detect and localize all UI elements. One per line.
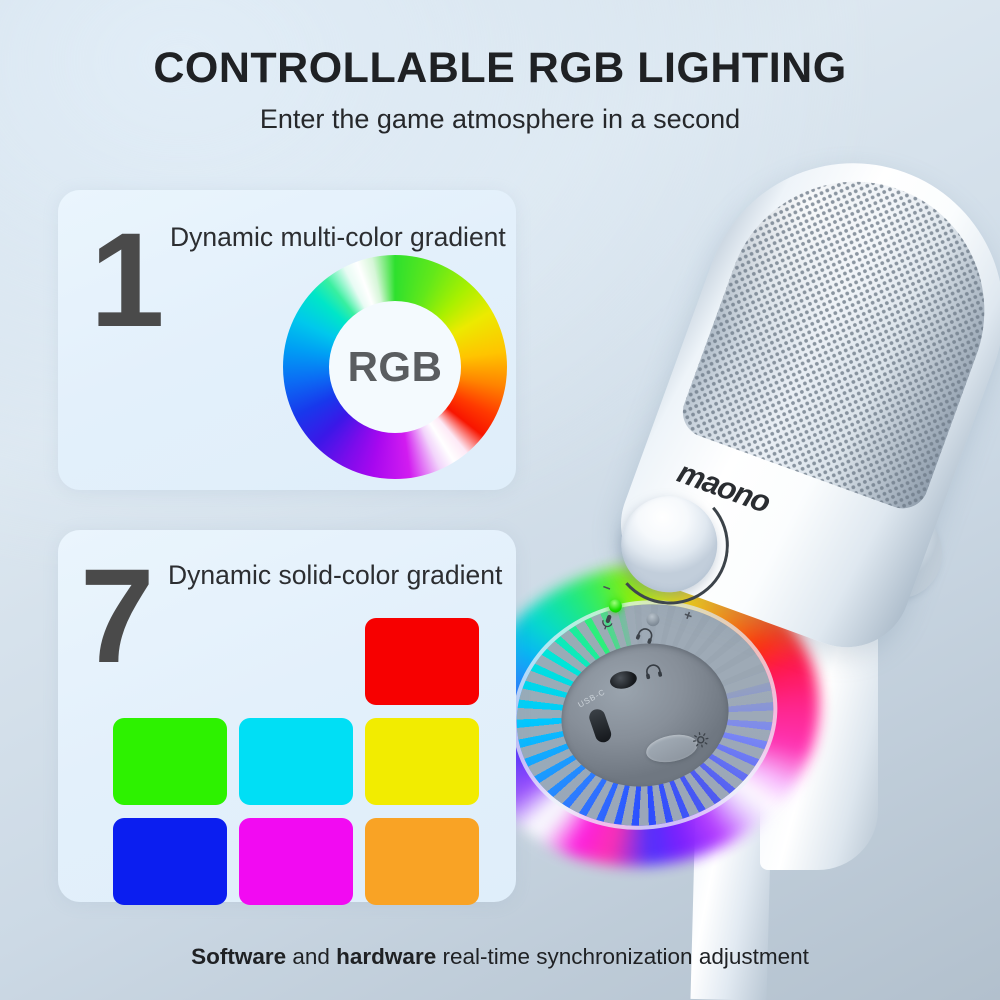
base-radial-fins <box>497 582 792 847</box>
rgb-color-wheel: RGB <box>283 255 507 479</box>
mic-grille <box>676 145 1000 515</box>
headphone-icon <box>635 625 656 645</box>
volume-knob <box>608 483 731 606</box>
volume-plus-label: + <box>682 606 695 624</box>
page-subtitle: Enter the game atmosphere in a second <box>0 104 1000 135</box>
volume-knob-arc <box>607 483 733 609</box>
brightness-icon <box>691 730 710 749</box>
caption-tail: real-time synchronization adjustment <box>436 944 809 969</box>
feature-card-multicolor: 1 Dynamic multi-color gradient RGB <box>58 190 516 490</box>
headphone-icon <box>644 662 664 680</box>
card-label: Dynamic multi-color gradient <box>170 222 506 253</box>
swatch-orange[interactable] <box>365 818 479 905</box>
mic-stand-post <box>690 559 777 1000</box>
rgb-wheel-label: RGB <box>348 343 443 391</box>
usb-c-port <box>587 707 613 744</box>
swatch-yellow[interactable] <box>365 718 479 805</box>
volume-minus-label: − <box>600 579 613 597</box>
swatch-empty-2 <box>239 618 353 705</box>
mic-stand-arm <box>760 540 878 870</box>
card-label: Dynamic solid-color gradient <box>168 560 502 591</box>
status-led <box>607 598 624 615</box>
swatch-cyan[interactable] <box>239 718 353 805</box>
pivot-collar <box>822 512 874 596</box>
caption-bold-software: Software <box>191 944 286 969</box>
lighting-mode-button <box>644 731 700 766</box>
usb-c-label: USB-C <box>577 687 608 709</box>
swatch-magenta[interactable] <box>239 818 353 905</box>
mic-control-cluster: − + <box>586 578 717 668</box>
color-swatch-grid <box>113 618 479 905</box>
header: CONTROLLABLE RGB LIGHTING Enter the game… <box>0 0 1000 135</box>
footer-caption: Software and hardware real-time synchron… <box>0 944 1000 970</box>
caption-mid: and <box>286 944 336 969</box>
base-port-plate: USB-C <box>549 629 741 800</box>
mute-indicator-dot <box>645 611 662 628</box>
feature-card-solidcolor: 7 Dynamic solid-color gradient <box>58 530 516 902</box>
microphone-body: maono − + <box>590 116 1000 671</box>
base-ridge <box>493 578 798 853</box>
mic-shell <box>603 121 1000 665</box>
maono-logo-icon <box>885 536 915 570</box>
swatch-empty-1 <box>113 618 227 705</box>
microphone-icon <box>598 612 616 632</box>
caption-bold-hardware: hardware <box>336 944 436 969</box>
swatch-green[interactable] <box>113 718 227 805</box>
mic-stand-yoke <box>806 440 878 590</box>
swatch-red[interactable] <box>365 618 479 705</box>
card-number: 1 <box>90 214 163 348</box>
rgb-wheel-center: RGB <box>329 301 461 433</box>
brand-label: maono <box>673 454 775 520</box>
headphone-jack <box>609 669 639 691</box>
page-title: CONTROLLABLE RGB LIGHTING <box>0 46 1000 91</box>
pivot-adjust-knob <box>858 508 942 598</box>
swatch-blue[interactable] <box>113 818 227 905</box>
